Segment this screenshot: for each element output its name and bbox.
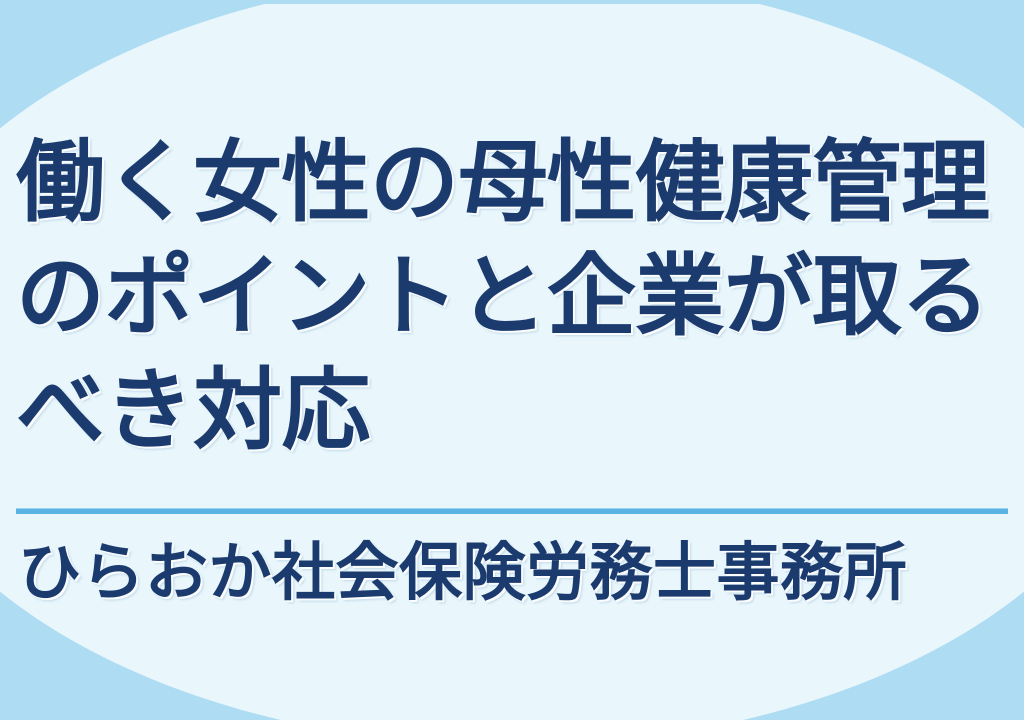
page-title-line-1: 働く女性の母性健康管理 [16,126,1016,240]
slide-content: 働く女性の母性健康管理 のポイントと企業が取る べき対応 ひらおか社会保険労務士… [0,0,1024,720]
horizontal-divider [16,508,1008,514]
page-title-line-3: べき対応 [16,354,1016,468]
page-title-line-2: のポイントと企業が取る [16,240,1016,354]
page-title: 働く女性の母性健康管理 のポイントと企業が取る べき対応 [16,126,1016,468]
organization-name: ひらおか社会保険労務士事務所 [18,534,1018,613]
organization-name-line-1: ひらおか社会保険労務士事務所 [18,534,1018,613]
title-slide: 働く女性の母性健康管理 のポイントと企業が取る べき対応 ひらおか社会保険労務士… [0,0,1024,720]
